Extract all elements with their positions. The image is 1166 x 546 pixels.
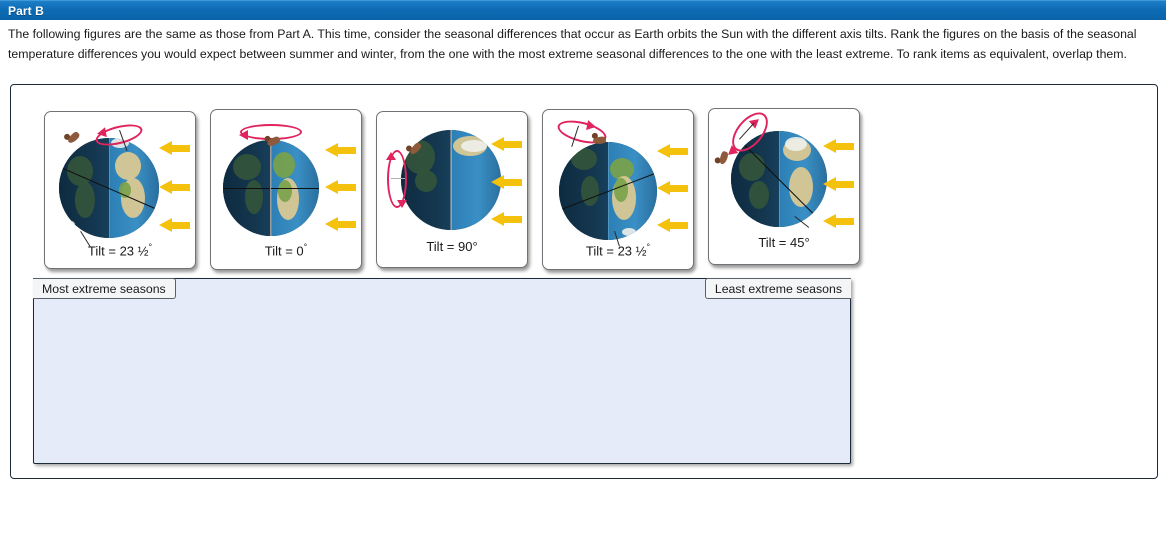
degree-symbol: ° bbox=[646, 242, 650, 252]
earth-diagram: Tilt = 23 ½° bbox=[543, 110, 693, 269]
tilt-caption-text: Tilt = 45 bbox=[758, 235, 804, 250]
rotation-axis-line bbox=[270, 140, 271, 236]
tilt-caption-text: Tilt = 90 bbox=[426, 239, 472, 254]
sunlight-arrow-icon bbox=[823, 139, 854, 154]
earth-globe bbox=[223, 140, 319, 236]
figure-card-tilt-0[interactable]: Tilt = 0° bbox=[210, 109, 362, 270]
globe-day-side bbox=[608, 142, 657, 240]
earth-globe bbox=[559, 142, 657, 240]
globe-night-side bbox=[59, 138, 109, 238]
rotation-arrow-head-icon bbox=[386, 152, 396, 160]
earth-diagram: Tilt = 45° bbox=[709, 109, 859, 264]
sunlight-arrow-icon bbox=[491, 137, 522, 152]
rotation-arrow-head-icon bbox=[397, 200, 407, 208]
rotation-arrow-head-icon bbox=[239, 130, 248, 140]
sunlight-arrow-icon bbox=[159, 180, 190, 195]
earth-globe bbox=[59, 138, 159, 238]
equator-line bbox=[223, 188, 319, 189]
question-instructions: The following figures are the same as th… bbox=[8, 25, 1160, 64]
sunlight-arrow-icon bbox=[159, 141, 190, 156]
ranking-drop-area[interactable]: Most extreme seasons Least extreme seaso… bbox=[33, 278, 851, 464]
degree-symbol: ° bbox=[472, 239, 477, 254]
rotation-arrow-head-icon bbox=[96, 127, 107, 138]
sunlight-arrow-icon bbox=[491, 175, 522, 190]
part-header-bar: Part B bbox=[0, 0, 1166, 20]
sunlight-arrow-icon bbox=[657, 144, 688, 159]
tilt-caption: Tilt = 23 ½° bbox=[45, 242, 195, 258]
figure-card-tilt-23-5-b[interactable]: Tilt = 23 ½° bbox=[542, 109, 694, 270]
globe-day-side bbox=[779, 131, 827, 227]
sunlight-arrow-icon bbox=[657, 218, 688, 233]
figure-card-tilt-45[interactable]: Tilt = 45° bbox=[708, 108, 860, 265]
tilt-caption-text: Tilt = 23 ½ bbox=[88, 243, 149, 258]
ranking-right-label: Least extreme seasons bbox=[705, 278, 851, 299]
sunlight-arrow-icon bbox=[325, 217, 356, 232]
figure-card-tilt-90[interactable]: Tilt = 90° bbox=[376, 111, 528, 268]
ranking-left-label: Most extreme seasons bbox=[33, 278, 176, 299]
tilt-caption: Tilt = 45° bbox=[709, 235, 859, 250]
sunlight-arrow-icon bbox=[657, 181, 688, 196]
earth-diagram: Tilt = 90° bbox=[377, 112, 527, 267]
earth-diagram: Tilt = 23 ½° bbox=[45, 112, 195, 268]
degree-symbol: ° bbox=[304, 242, 308, 252]
globe-day-side bbox=[109, 138, 159, 238]
ranking-task-frame: Tilt = 23 ½° bbox=[10, 84, 1158, 479]
part-title: Part B bbox=[0, 4, 44, 18]
tilt-caption-text: Tilt = 0 bbox=[265, 243, 304, 258]
observer-figure-icon bbox=[264, 134, 284, 149]
sunlight-arrow-icon bbox=[491, 212, 522, 227]
earth-diagram: Tilt = 0° bbox=[211, 110, 361, 269]
sunlight-arrow-icon bbox=[325, 143, 356, 158]
sunlight-arrow-icon bbox=[823, 214, 854, 229]
sunlight-arrow-icon bbox=[823, 177, 854, 192]
figure-card-tilt-23-5-a[interactable]: Tilt = 23 ½° bbox=[44, 111, 196, 269]
globe-night-side bbox=[559, 142, 608, 240]
tilt-caption: Tilt = 23 ½° bbox=[543, 242, 693, 258]
sunlight-arrow-icon bbox=[325, 180, 356, 195]
tilt-caption: Tilt = 0° bbox=[211, 242, 361, 258]
equator-line bbox=[451, 130, 452, 230]
rotation-axis-line bbox=[391, 178, 405, 179]
degree-symbol: ° bbox=[804, 235, 809, 250]
tilt-caption: Tilt = 90° bbox=[377, 239, 527, 254]
sunlight-arrow-icon bbox=[159, 218, 190, 233]
figure-card-row: Tilt = 23 ½° bbox=[33, 98, 873, 288]
tilt-caption-text: Tilt = 23 ½ bbox=[586, 243, 647, 258]
degree-symbol: ° bbox=[148, 242, 152, 252]
